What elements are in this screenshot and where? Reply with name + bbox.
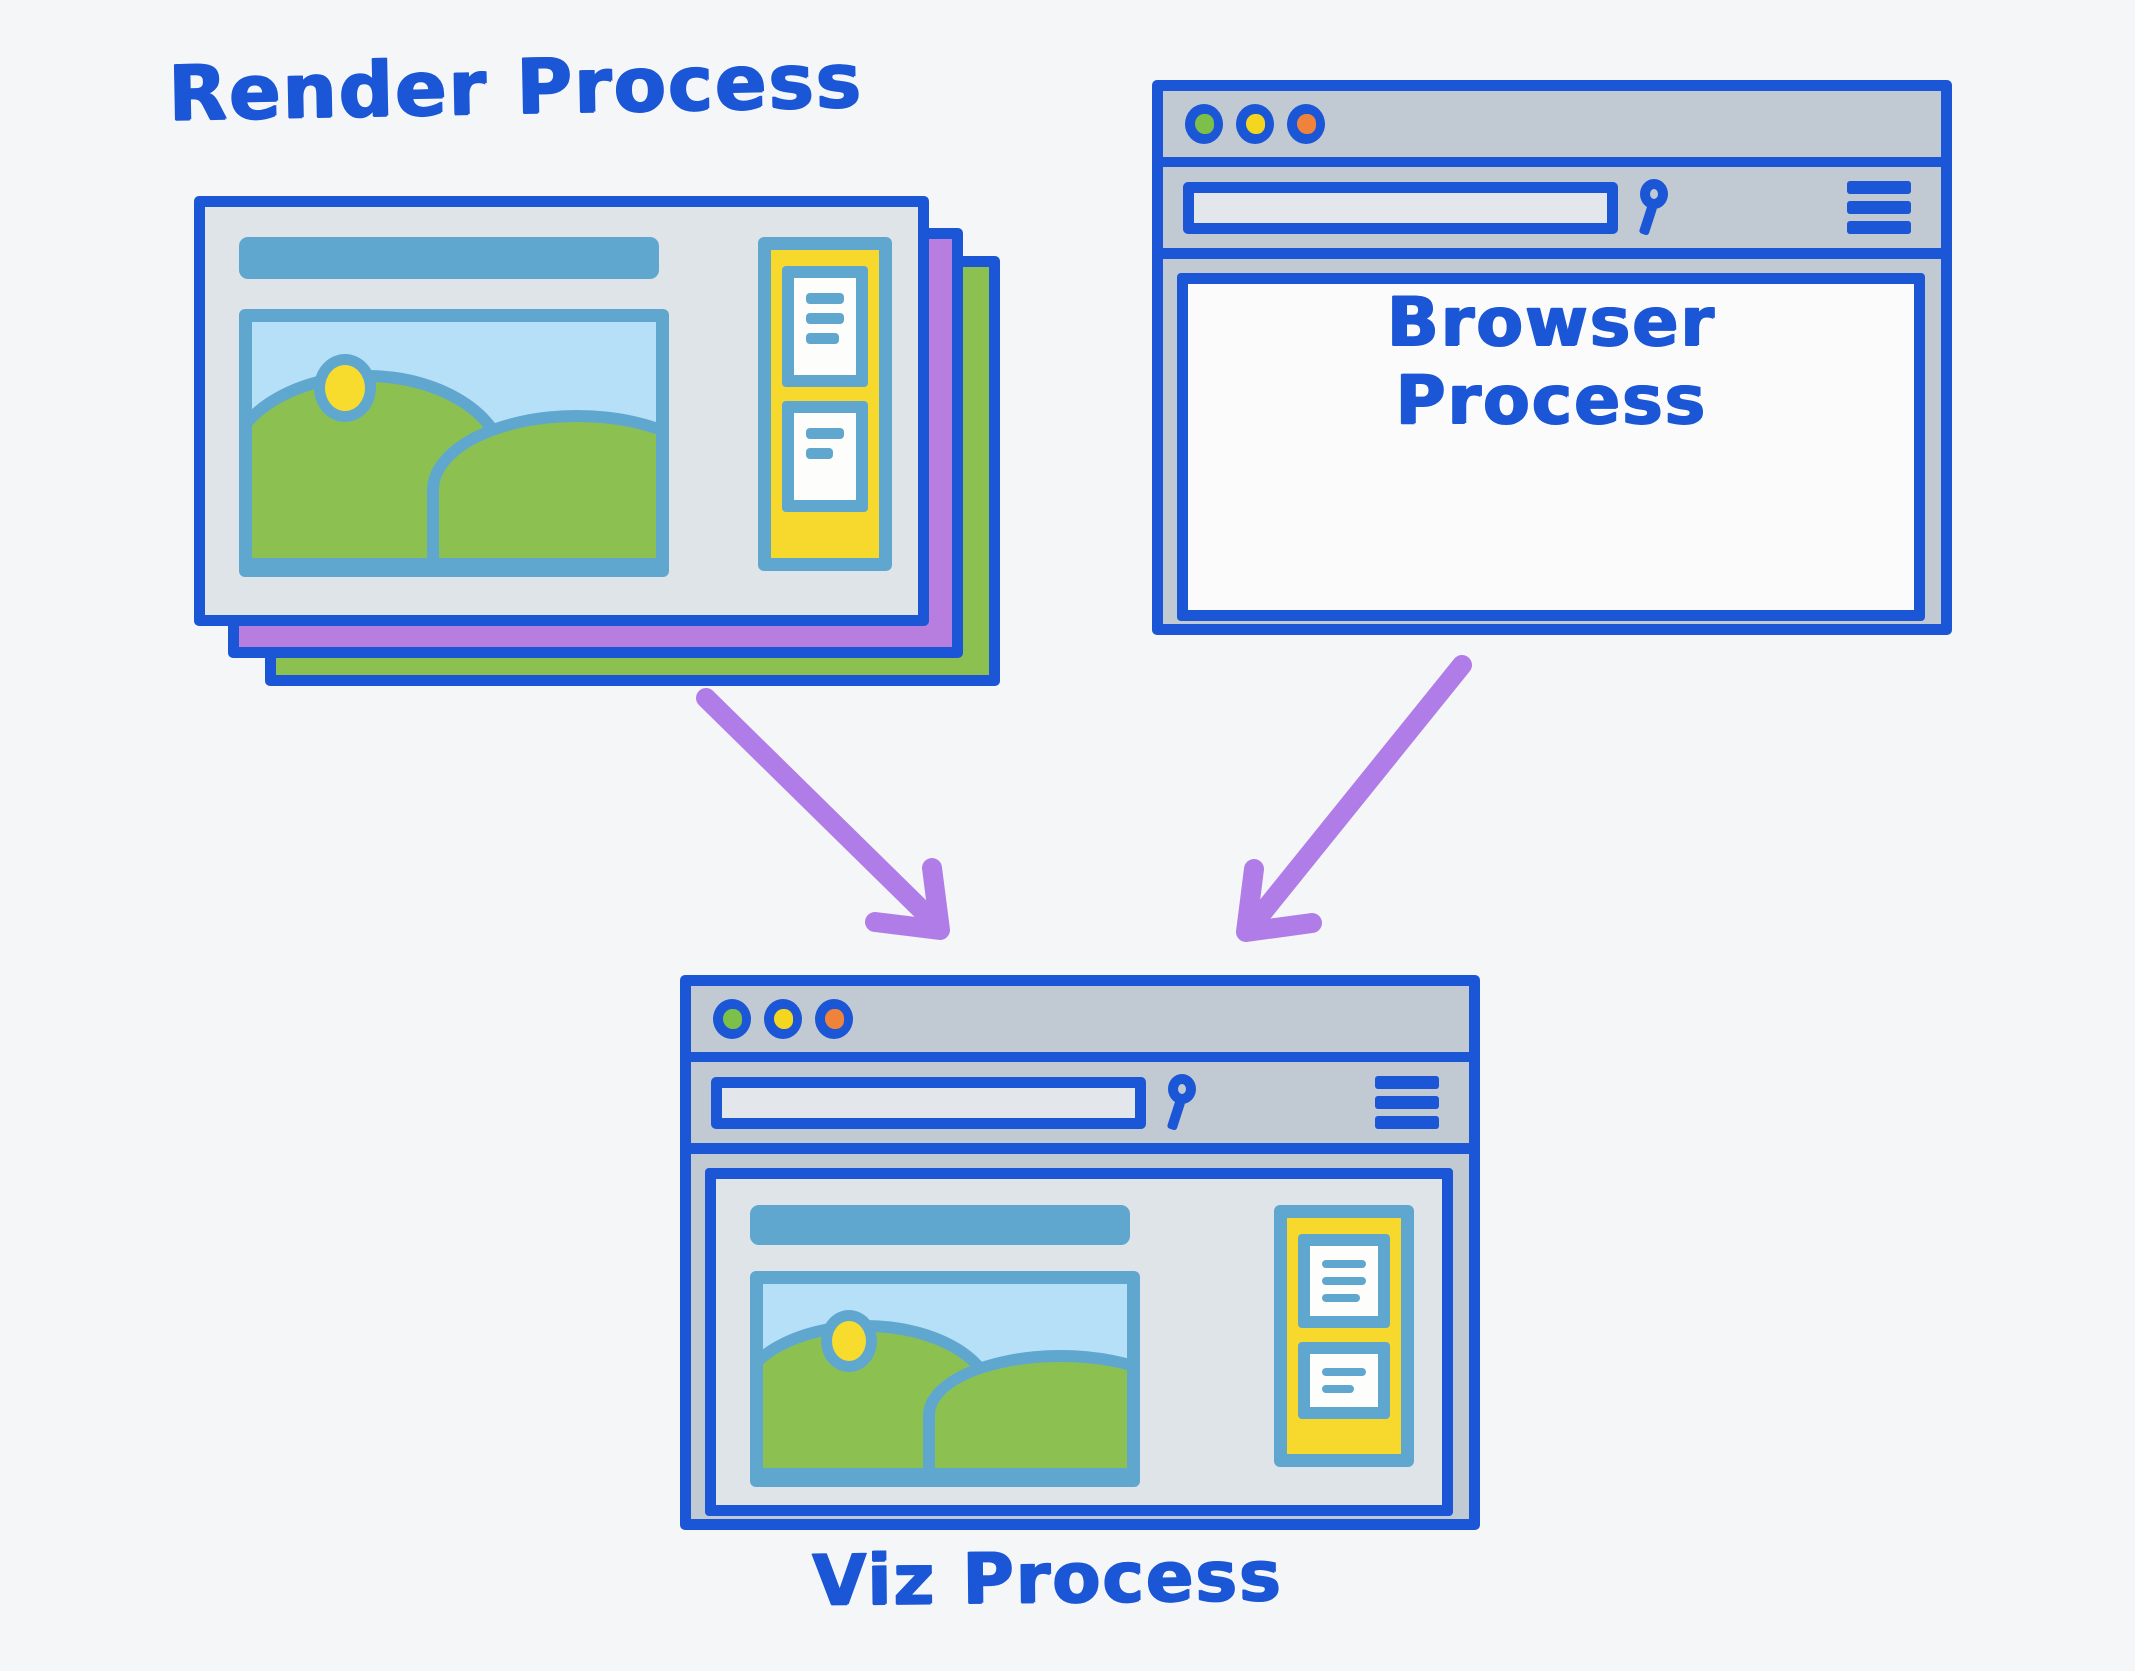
viz-process-title: Viz Process [812,1539,1283,1620]
viz-header-placeholder-bar [750,1205,1130,1245]
browser-process-window[interactable]: Browser Process [1152,80,1952,635]
traffic-light-orange[interactable] [1287,104,1325,144]
render-page-body [205,207,918,615]
browser-toolbar [1163,167,1941,259]
render-stack-layer-front[interactable] [194,196,929,626]
browser-process-label: Browser Process [1188,284,1914,439]
card-text-line [1322,1260,1366,1268]
viz-content-area [705,1168,1453,1516]
traffic-light-yellow[interactable] [1236,104,1274,144]
render-hero-image [239,309,669,577]
viz-titlebar [691,986,1469,1062]
viz-toolbar [691,1062,1469,1154]
card-text-line [806,428,844,439]
card-text-line [1322,1368,1366,1376]
card-text-line [806,313,844,324]
search-icon[interactable] [1632,179,1676,237]
render-process-title: Render Process [167,39,863,134]
viz-hero-image [750,1271,1140,1487]
card-text-line [1322,1277,1366,1285]
viz-url-input[interactable] [711,1077,1146,1129]
traffic-light-green[interactable] [1185,104,1223,144]
render-sidebar [758,237,892,571]
sun-icon [821,1310,877,1372]
render-sidebar-card[interactable] [782,401,868,511]
arrow-render-to-viz [700,690,1000,980]
traffic-light-green[interactable] [713,999,751,1039]
browser-traffic-lights [1163,104,1325,144]
card-text-line [806,333,839,344]
diagram-canvas: Render Process [0,0,2135,1671]
card-text-line [806,293,844,304]
hamburger-icon[interactable] [1847,181,1911,234]
viz-sidebar-card[interactable] [1298,1234,1390,1328]
browser-titlebar [1163,91,1941,167]
viz-traffic-lights [691,999,853,1039]
arrow-browser-to-viz [1220,655,1520,965]
traffic-light-yellow[interactable] [764,999,802,1039]
hamburger-icon[interactable] [1375,1076,1439,1129]
browser-url-input[interactable] [1183,182,1618,234]
viz-page-main-column [748,1201,1244,1481]
sun-icon [314,354,376,422]
viz-sidebar-card[interactable] [1298,1342,1390,1420]
viz-sidebar [1274,1205,1414,1467]
render-header-placeholder-bar [239,237,659,279]
render-page-main-column [235,231,732,589]
render-sidebar-card[interactable] [782,266,868,387]
card-text-line [806,448,833,459]
viz-process-window[interactable] [680,975,1480,1530]
card-text-line [1322,1385,1354,1393]
browser-content-area: Browser Process [1177,273,1925,621]
traffic-light-orange[interactable] [815,999,853,1039]
search-icon[interactable] [1160,1074,1204,1132]
card-text-line [1322,1294,1360,1302]
